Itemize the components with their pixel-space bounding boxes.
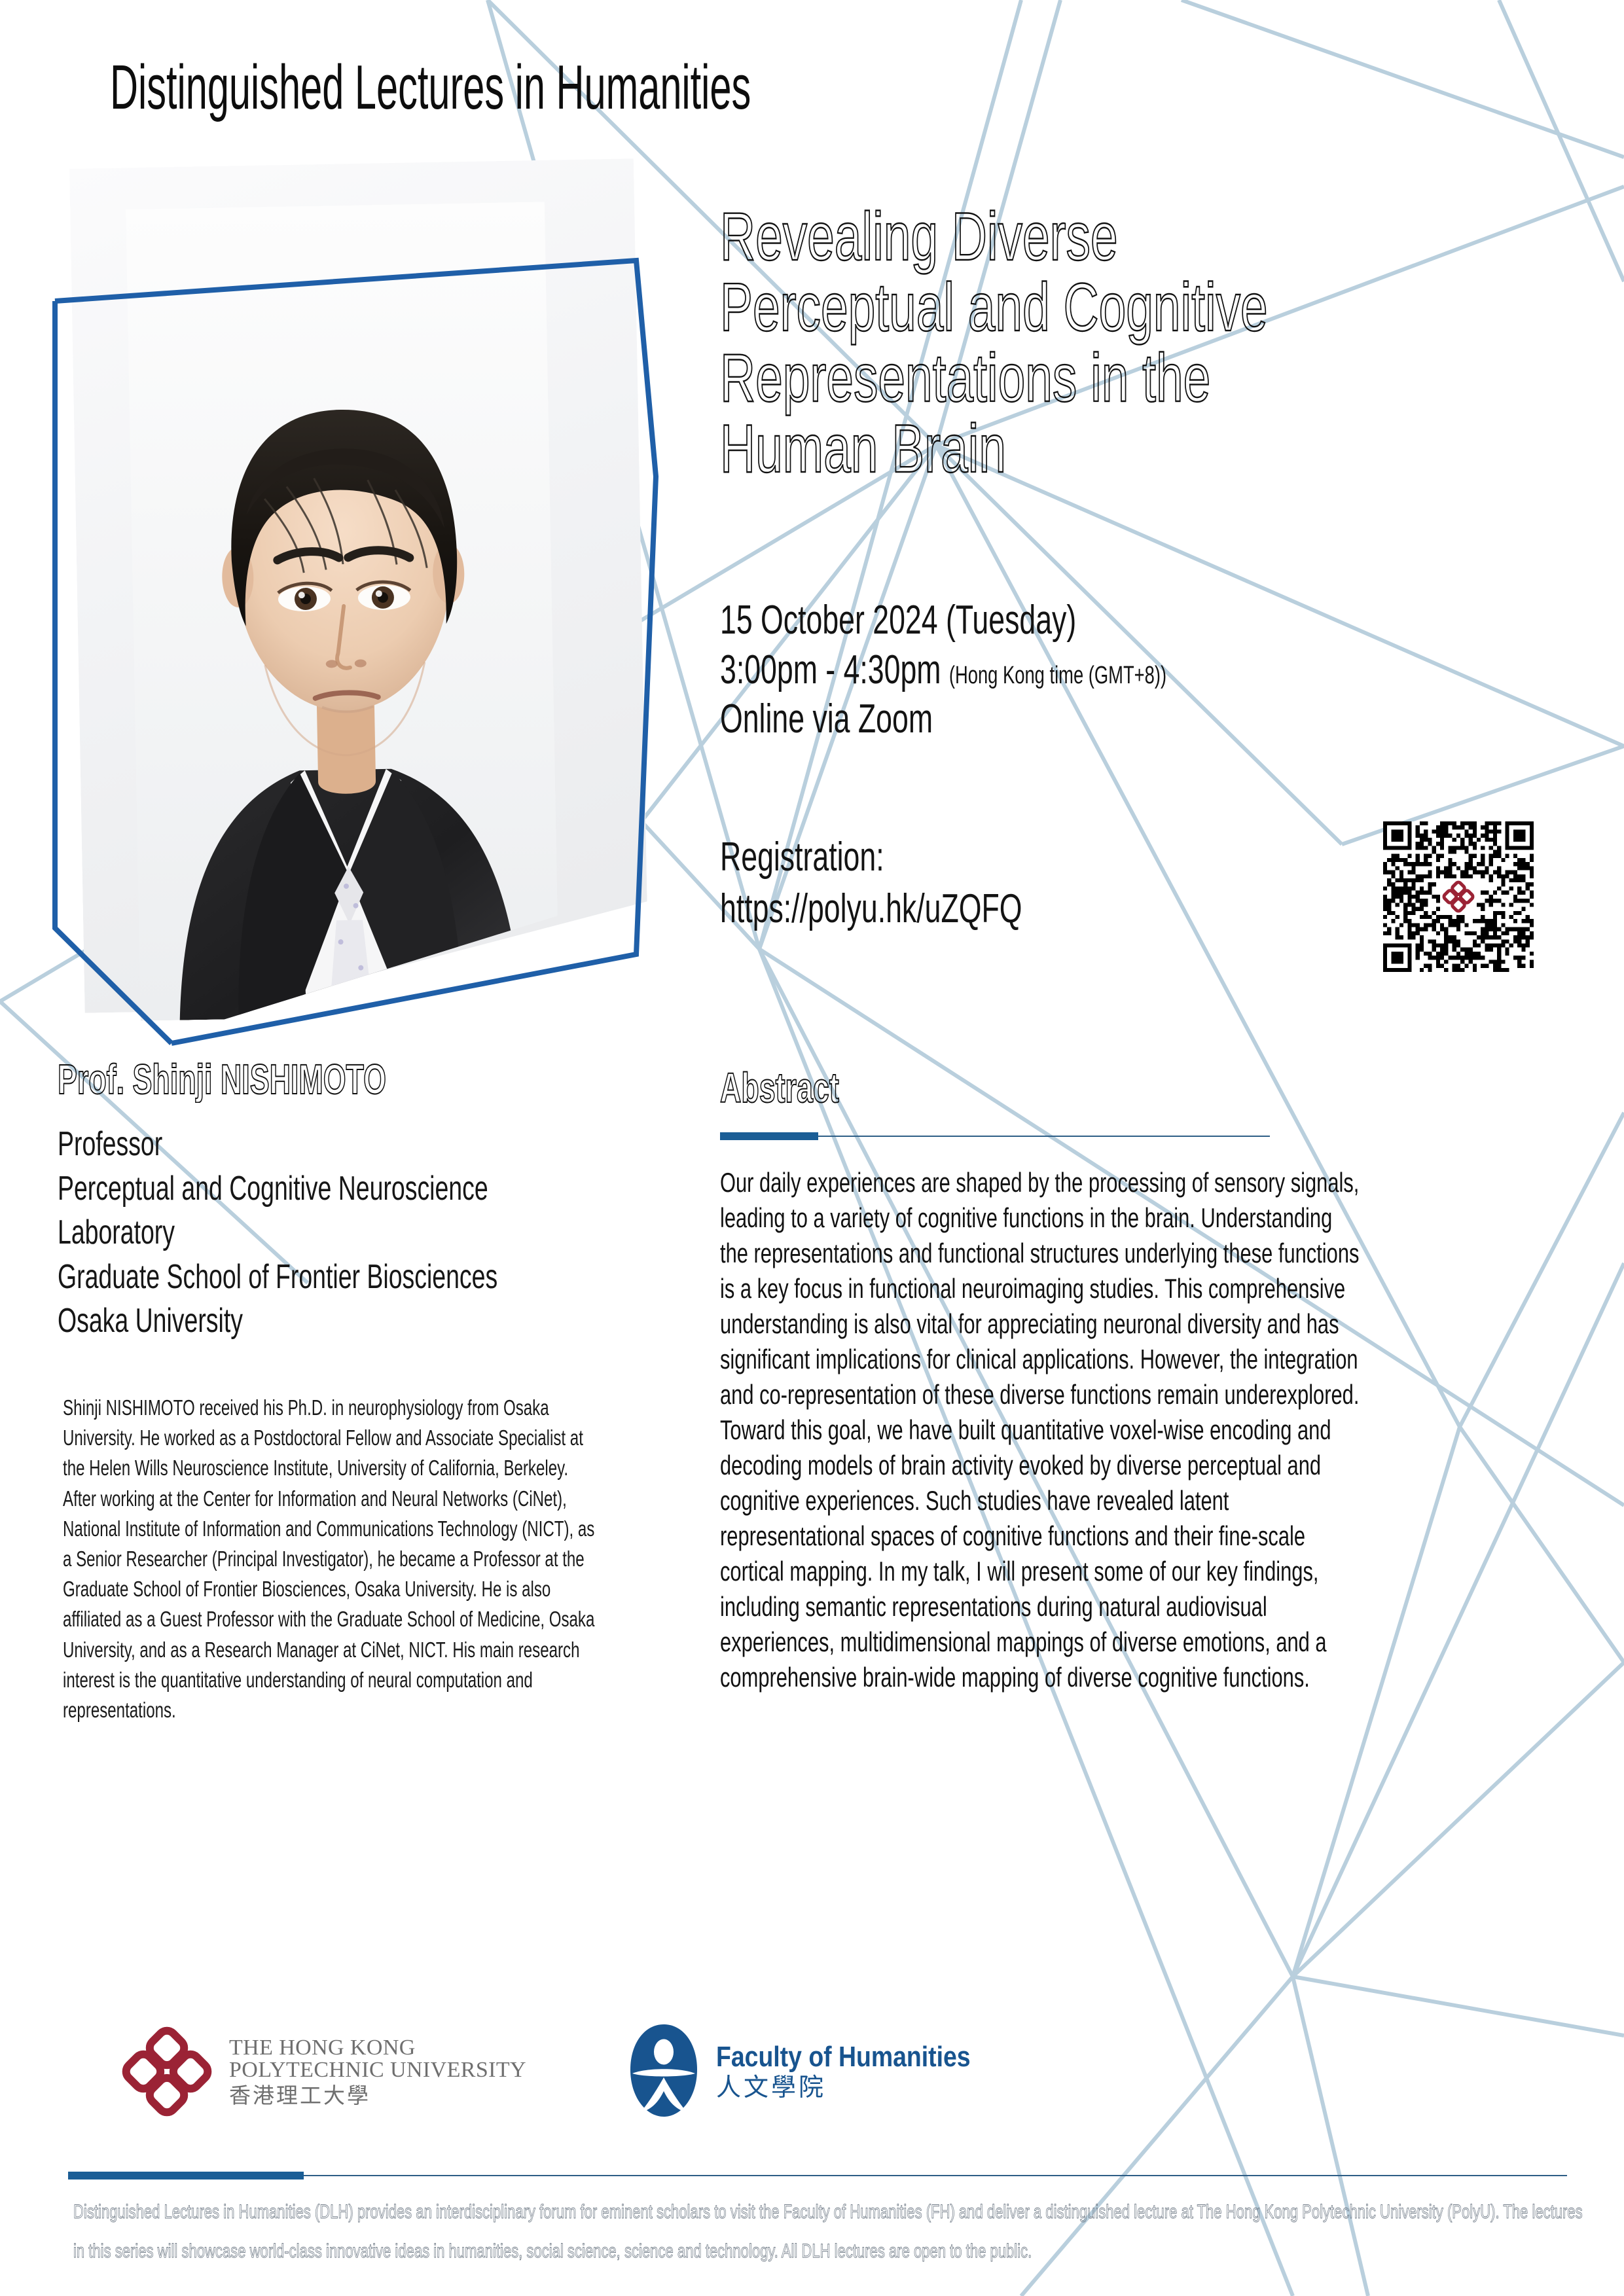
registration-url[interactable]: https://polyu.hk/uZQFQ: [720, 883, 1352, 935]
event-date: 15 October 2024 (Tuesday): [720, 596, 1352, 645]
abstract-heading: Abstract: [720, 1064, 839, 1112]
footer-divider: [68, 2172, 1567, 2179]
faculty-of-humanities-emblem: [624, 2022, 703, 2121]
photo-frame-outline: [47, 169, 656, 1046]
abstract-divider: [720, 1132, 1270, 1140]
faculty-name-chinese: 人文學院: [716, 2075, 1015, 2101]
event-time-row: 3:00pm - 4:30pm (Hong Kong time (GMT+8)): [720, 645, 1352, 695]
event-timezone: (Hong Kong time (GMT+8)): [949, 662, 1166, 689]
talk-title: Revealing Diverse Perceptual and Cogniti…: [720, 203, 1597, 486]
affiliation-line-1: Professor: [58, 1122, 576, 1167]
polyu-logo: THE HONG KONG POLYTECHNIC UNIVERSITY 香港理…: [118, 2016, 526, 2127]
event-details: 15 October 2024 (Tuesday) 3:00pm - 4:30p…: [720, 596, 1597, 744]
affiliation-line-3: Laboratory: [58, 1211, 576, 1255]
abstract-body: Our daily experiences are shaped by the …: [720, 1165, 1362, 1695]
footer-description: Distinguished Lectures in Humanities (DL…: [73, 2193, 1589, 2271]
polyu-name-line-2: POLYTECHNIC UNIVERSITY: [229, 2059, 526, 2082]
polyu-knot-emblem: [118, 2016, 216, 2127]
registration-qr-code[interactable]: [1383, 821, 1534, 972]
abstract-divider-thick: [720, 1132, 818, 1140]
series-title: Distinguished Lectures in Humanities: [110, 56, 751, 119]
footer-divider-thick: [68, 2172, 304, 2179]
speaker-photo-block: [47, 169, 656, 1046]
footer-divider-thin: [304, 2175, 1567, 2176]
affiliation-line-5: Osaka University: [58, 1299, 576, 1344]
speaker-affiliation: Professor Perceptual and Cognitive Neuro…: [58, 1122, 778, 1344]
affiliation-line-4: Graduate School of Frontier Biosciences: [58, 1255, 576, 1300]
polyu-name-chinese: 香港理工大學: [229, 2085, 526, 2107]
polyu-knot-emblem-qr: [1440, 878, 1477, 915]
affiliation-line-2: Perceptual and Cognitive Neuroscience: [58, 1167, 576, 1211]
talk-title-line-4: Human Brain: [720, 415, 1352, 483]
logo-row: THE HONG KONG POLYTECHNIC UNIVERSITY 香港理…: [118, 2016, 1015, 2127]
speaker-bio: Shinji NISHIMOTO received his Ph.D. in n…: [63, 1393, 596, 1725]
event-venue: Online via Zoom: [720, 694, 1352, 744]
polyu-name-line-1: THE HONG KONG: [229, 2037, 526, 2060]
talk-title-line-3: Representations in the: [720, 344, 1352, 412]
event-time: 3:00pm - 4:30pm: [720, 647, 941, 692]
faculty-of-humanities-logo: Faculty of Humanities 人文學院: [624, 2022, 1015, 2121]
registration-label: Registration:: [720, 831, 1352, 883]
abstract-divider-thin: [818, 1136, 1270, 1137]
speaker-name: Prof. Shinji NISHIMOTO: [58, 1055, 386, 1103]
faculty-name-english: Faculty of Humanities: [716, 2042, 971, 2072]
talk-title-line-2: Perceptual and Cognitive: [720, 274, 1352, 342]
talk-title-line-1: Revealing Diverse: [720, 203, 1352, 271]
